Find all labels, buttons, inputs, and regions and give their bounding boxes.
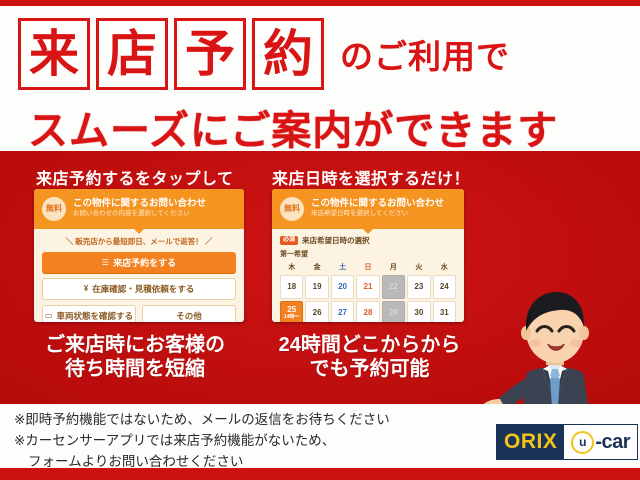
calendar-day-24[interactable]: 24 <box>433 275 456 299</box>
calendar-section-title: 必須 来店希望日時の選択 <box>280 235 456 246</box>
left-panel-heading: 来店予約するをタップして <box>36 165 234 189</box>
free-badge: 無料 <box>280 197 304 221</box>
calendar-day-time: 14時～ <box>284 315 300 320</box>
calendar-day-number: 19 <box>313 283 322 291</box>
ucar-u-circle-icon: u <box>571 431 594 454</box>
calendar-day-18[interactable]: 18 <box>280 275 303 299</box>
calendar-day-number: 21 <box>364 283 373 291</box>
inquiry-header-subtitle: お問い合わせの内容を選択してください <box>73 210 206 218</box>
first-choice-label: 第一希望 <box>280 249 456 259</box>
calendar-day-number: 31 <box>440 309 449 317</box>
inquiry-options-card: 無料 この物件に関するお問い合わせ お問い合わせの内容を選択してください ＼ 販… <box>34 189 244 322</box>
secondary-button-row: ▭ 車両状態を確認する その他 <box>42 305 236 322</box>
calendar-weekday-月: 月 <box>382 262 405 273</box>
stock-quote-button[interactable]: ¥ 在庫確認・見積依頼をする <box>42 278 236 300</box>
calendar-header-subtitle: 来店希望日時を選択してください <box>311 210 444 218</box>
calendar-day-29: 29 <box>382 301 405 322</box>
kanji-box-2: 店 <box>96 18 168 90</box>
calendar-day-25[interactable]: 2514時～ <box>280 301 303 322</box>
kanji-box-4: 約 <box>252 18 324 90</box>
calendar-day-22: 22 <box>382 275 405 299</box>
kanji-box-3: 予 <box>174 18 246 90</box>
calendar-day-number: 27 <box>338 309 347 317</box>
calendar-day-23[interactable]: 23 <box>407 275 430 299</box>
inquiry-header-text: この物件に関するお問い合わせ お問い合わせの内容を選択してください <box>73 199 206 218</box>
calendar-header-text: この物件に関するお問い合わせ 来店希望日時を選択してください <box>311 199 444 218</box>
headline-tail-text: のご利用で <box>340 30 510 78</box>
calendar-weekday-金: 金 <box>305 262 328 273</box>
calendar-day-number: 26 <box>313 309 322 317</box>
ucar-wordmark: u -car <box>564 425 637 459</box>
calendar-day-28[interactable]: 28 <box>356 301 379 322</box>
calendar-weekday-土: 土 <box>331 262 354 273</box>
calendar-day-20[interactable]: 20 <box>331 275 354 299</box>
disclaimer-line-2: ※カーセンサーアプリでは来店予約機能がないため、 <box>14 433 335 448</box>
required-badge: 必須 <box>280 236 298 246</box>
inquiry-card-header: 無料 この物件に関するお問い合わせ お問い合わせの内容を選択してください <box>34 189 244 229</box>
calendar-day-number: 30 <box>414 309 423 317</box>
disclaimer-line-1: ※即時予約機能ではないため、メールの返信をお待ちください <box>14 412 390 427</box>
vehicle-condition-button[interactable]: ▭ 車両状態を確認する <box>42 305 136 322</box>
headline-row-1: 来 店 予 約 のご利用で <box>18 18 510 90</box>
calendar-day-21[interactable]: 21 <box>356 275 379 299</box>
calendar-day-27[interactable]: 27 <box>331 301 354 322</box>
other-label: その他 <box>176 310 202 322</box>
header-notch-icon <box>134 229 144 234</box>
disclaimer-text: ※即時予約機能ではないため、メールの返信をお待ちください ※カーセンサーアプリで… <box>14 410 474 473</box>
calendar-weekday-水: 水 <box>433 262 456 273</box>
vehicle-condition-label: 車両状態を確認する <box>57 310 134 322</box>
calendar-day-number: 22 <box>389 283 398 291</box>
reserve-visit-button[interactable]: ☰ 来店予約をする <box>42 252 236 273</box>
orix-wordmark: ORIX <box>497 425 564 459</box>
calendar-grid[interactable]: 木金土日月火水181920212223242514時～262728293031 <box>280 262 456 322</box>
free-badge: 無料 <box>42 197 66 221</box>
calendar-weekday-火: 火 <box>407 262 430 273</box>
calendar-header-title: この物件に関するお問い合わせ <box>311 199 444 210</box>
calendar-day-number: 25 <box>287 306 296 314</box>
orix-ucar-logo: ORIX u -car <box>496 424 638 460</box>
right-benefit-line-2: でも予約可能 <box>262 357 477 381</box>
header-notch-icon <box>363 229 373 234</box>
calendar-day-number: 29 <box>389 309 398 317</box>
calendar-day-30[interactable]: 30 <box>407 301 430 322</box>
advertisement-banner: 来 店 予 約 のご利用で スムーズにご案内ができます 来店予約するをタップして… <box>0 0 640 480</box>
bottom-accent-bar <box>0 468 640 480</box>
kanji-box-1: 来 <box>18 18 90 90</box>
calendar-day-number: 20 <box>338 283 347 291</box>
car-icon: ☰ <box>102 259 109 267</box>
calendar-day-number: 24 <box>440 283 449 291</box>
left-benefit-caption: ご来店時にお客様の 待ち時間を短縮 <box>10 333 260 382</box>
headline-row-2: スムーズにご案内ができます <box>28 98 558 156</box>
calendar-card-header: 無料 この物件に関するお問い合わせ 来店希望日時を選択してください <box>272 189 464 229</box>
date-selection-card: 無料 この物件に関するお問い合わせ 来店希望日時を選択してください 必須 来店希… <box>272 189 464 322</box>
calendar-weekday-日: 日 <box>356 262 379 273</box>
ucar-text: -car <box>595 431 630 454</box>
calendar-day-31[interactable]: 31 <box>433 301 456 322</box>
inquiry-header-title: この物件に関するお問い合わせ <box>73 199 206 210</box>
calendar-day-26[interactable]: 26 <box>305 301 328 322</box>
reserve-visit-label: 来店予約をする <box>113 256 176 269</box>
right-benefit-caption: 24時間どこからから でも予約可能 <box>262 333 477 382</box>
calendar-day-number: 18 <box>287 283 296 291</box>
calendar-weekday-木: 木 <box>280 262 303 273</box>
yen-icon: ¥ <box>84 285 88 293</box>
calendar-day-number: 23 <box>414 283 423 291</box>
calendar-section-label: 来店希望日時の選択 <box>302 235 370 246</box>
stock-quote-label: 在庫確認・見積依頼をする <box>92 283 194 295</box>
left-benefit-line-2: 待ち時間を短縮 <box>10 357 260 381</box>
calendar-day-number: 28 <box>364 309 373 317</box>
calendar-day-19[interactable]: 19 <box>305 275 328 299</box>
headline-section: 来 店 予 約 のご利用で スムーズにご案内ができます <box>0 6 640 151</box>
red-feature-section: 来店予約するをタップして 来店日時を選択するだけ！ 無料 この物件に関するお問い… <box>0 151 640 404</box>
right-benefit-line-1: 24時間どこからから <box>262 333 477 357</box>
car-side-icon: ▭ <box>45 312 53 320</box>
right-panel-heading: 来店日時を選択するだけ！ <box>272 165 470 189</box>
other-button[interactable]: その他 <box>142 305 236 322</box>
calendar-body: 必須 来店希望日時の選択 第一希望 木金土日月火水181920212223242… <box>272 229 464 322</box>
left-benefit-line-1: ご来店時にお客様の <box>10 333 260 357</box>
